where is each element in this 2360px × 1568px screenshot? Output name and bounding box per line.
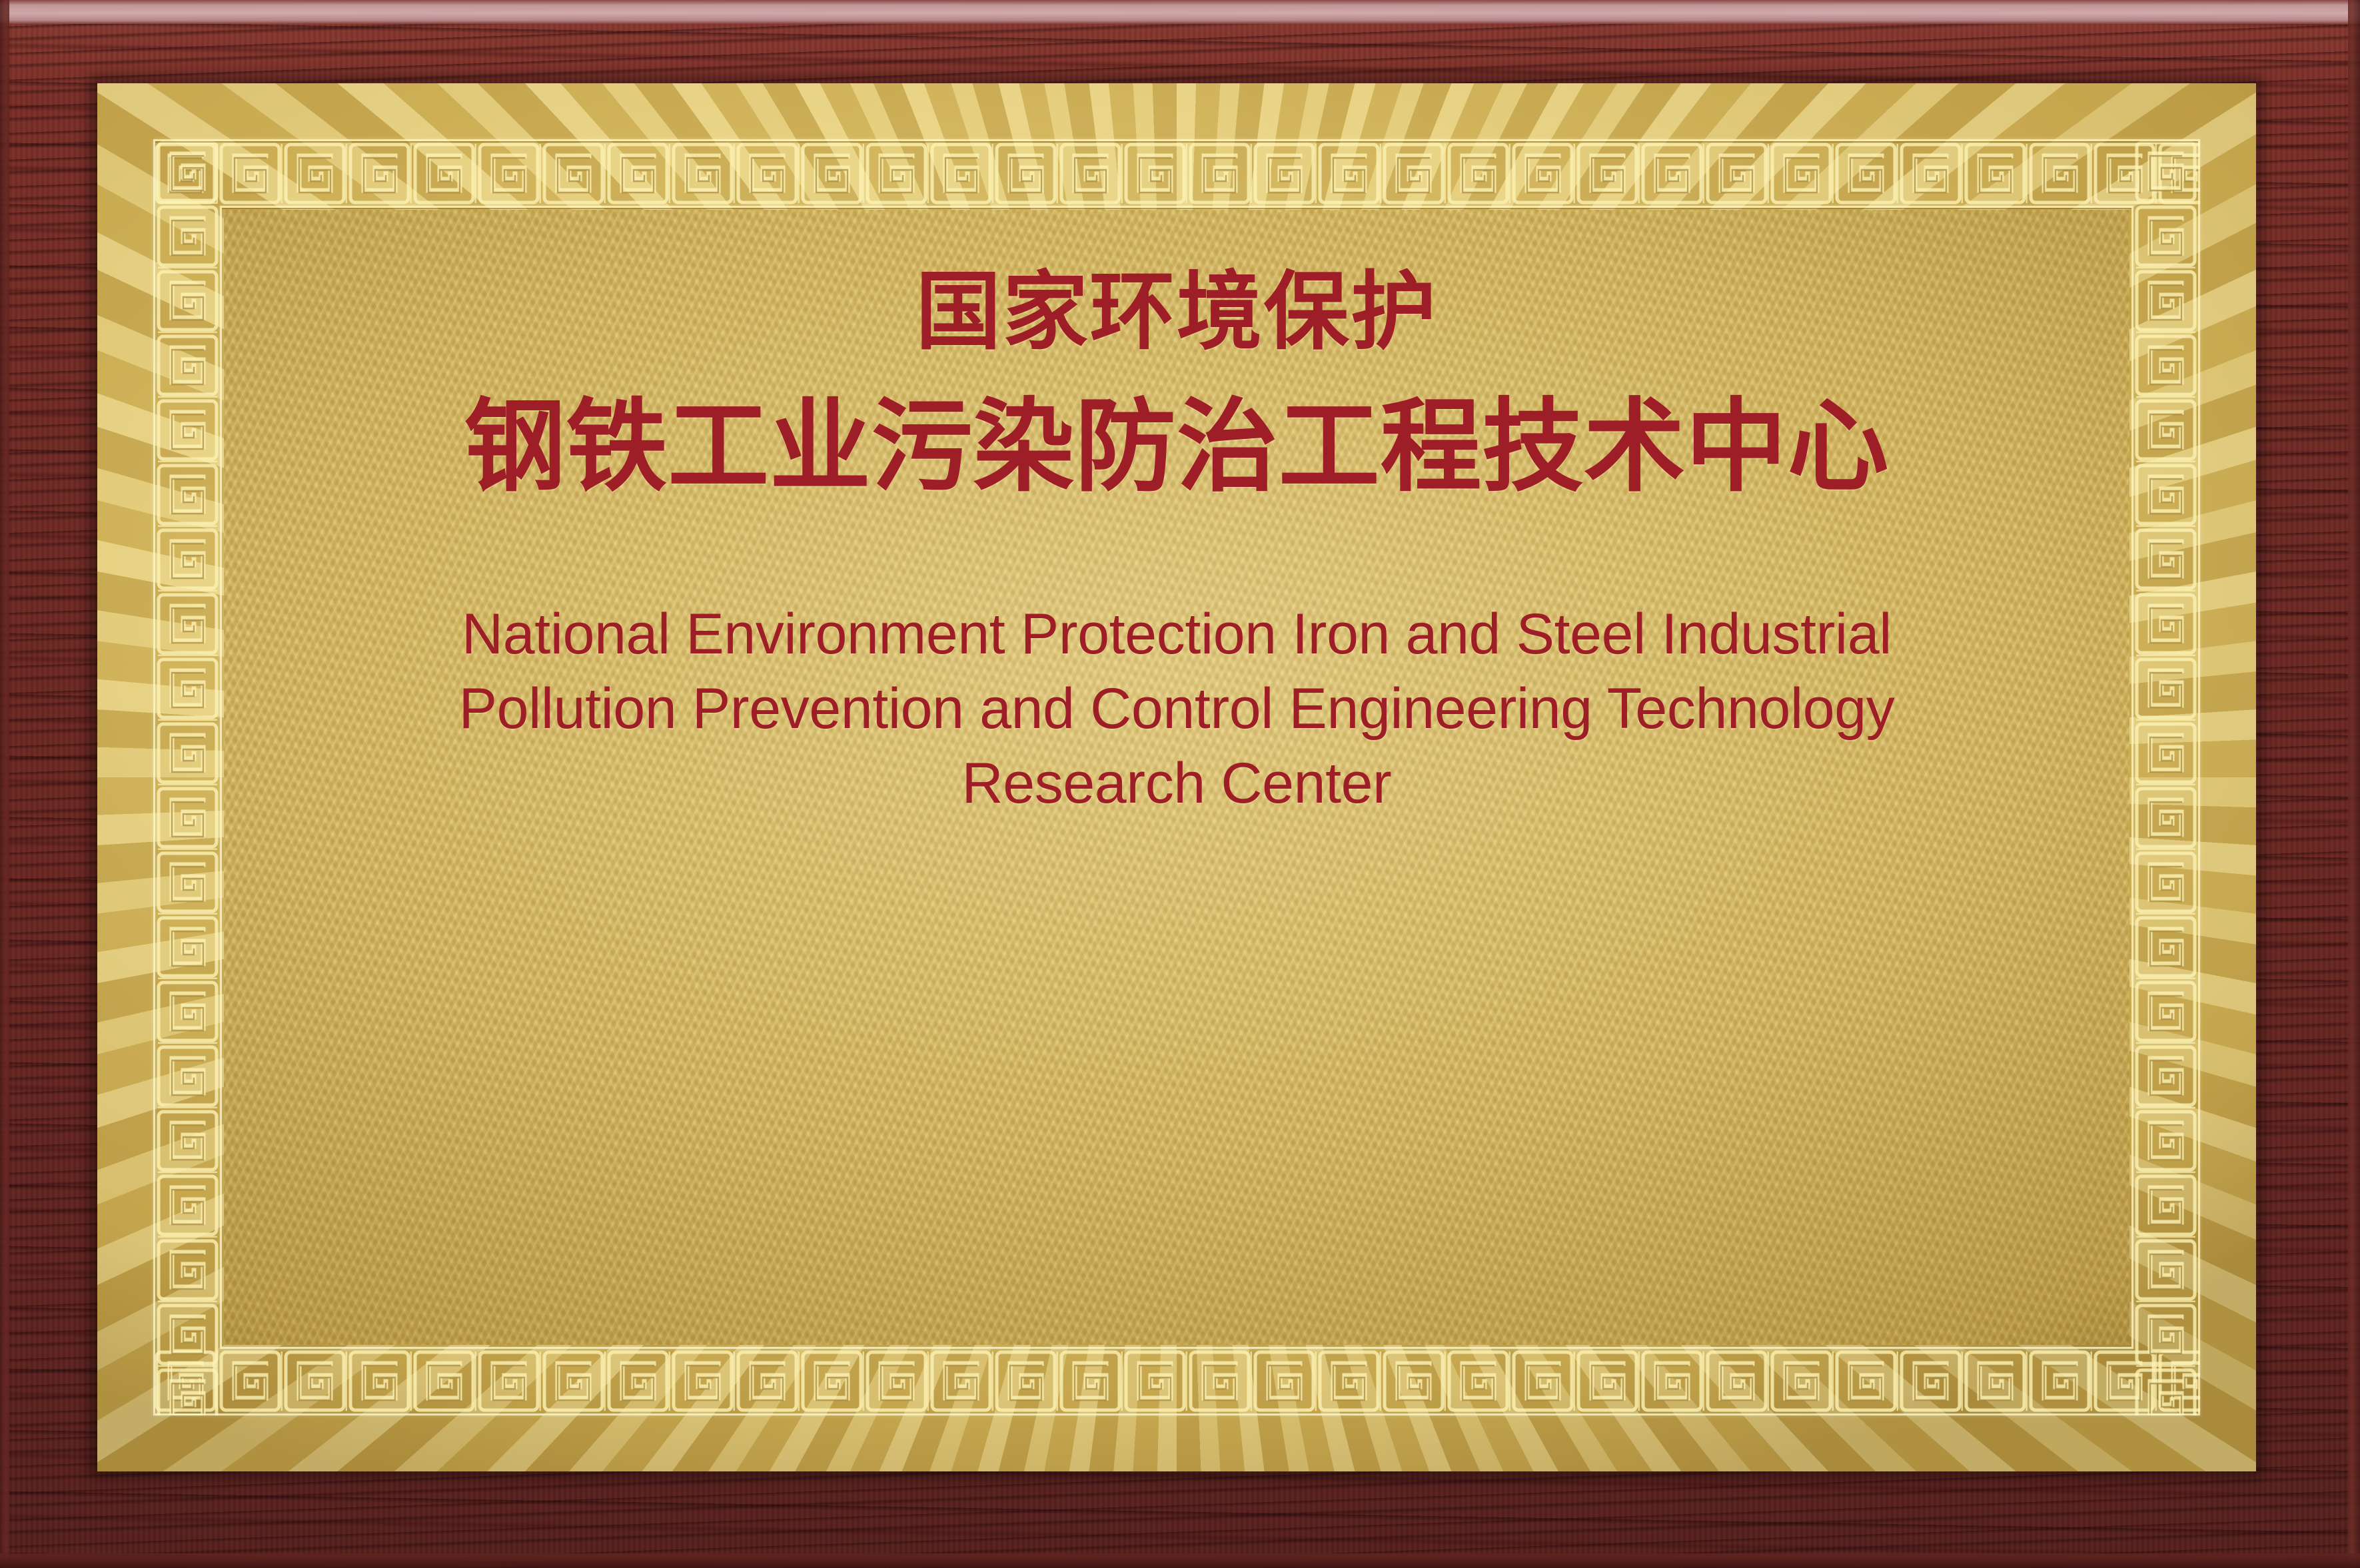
meander-band-left xyxy=(155,139,220,1415)
english-title-block: National Environment Protection Iron and… xyxy=(350,597,2003,821)
award-plaque: 国家环境保护 钢铁工业污染防治工程技术中心 National Environme… xyxy=(0,0,2360,1568)
english-title-line-1: National Environment Protection Iron and… xyxy=(350,597,2003,672)
frame-bevel-bottom xyxy=(0,1553,2360,1568)
meander-band-bottom xyxy=(153,1349,2200,1413)
meander-band-right xyxy=(2133,139,2198,1415)
english-title-line-3: Research Center xyxy=(350,747,2003,821)
chinese-title-line-1: 国家环境保护 xyxy=(915,270,1437,355)
chinese-title-line-2: 钢铁工业污染防治工程技术中心 xyxy=(464,396,1890,498)
frame-bevel-right xyxy=(2348,0,2360,1568)
inscription-text-block: 国家环境保护 钢铁工业污染防治工程技术中心 National Environme… xyxy=(224,210,2129,1345)
meander-band-top xyxy=(153,141,2200,206)
gold-plate: 国家环境保护 钢铁工业污染防治工程技术中心 National Environme… xyxy=(97,83,2256,1471)
frame-bevel-top xyxy=(0,0,2360,24)
frame-bevel-left xyxy=(0,0,9,1568)
english-title-line-2: Pollution Prevention and Control Enginee… xyxy=(350,672,2003,747)
inscription-panel: 国家环境保护 钢铁工业污染防治工程技术中心 National Environme… xyxy=(224,210,2129,1345)
